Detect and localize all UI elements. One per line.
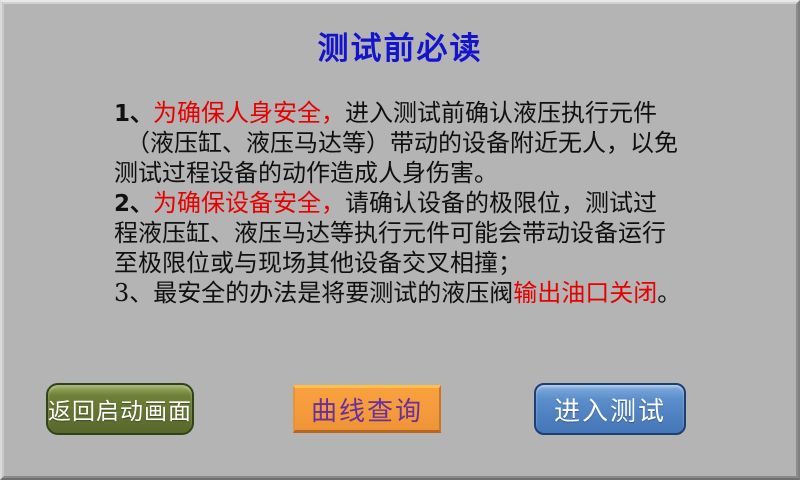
notice-item-1-body: 进入测试前确认液压执行元件 (345, 99, 657, 127)
notice-line-5: 程液压缸、液压马达等执行元件可能会带动设备运行 (114, 218, 714, 248)
hmi-screen: 测试前必读 1、为确保人身安全，进入测试前确认液压执行元件 （液压缸、液压马达等… (0, 0, 800, 480)
notice-line-5-text: 程液压缸、液压马达等执行元件可能会带动设备运行 (114, 219, 666, 247)
curve-query-button[interactable]: 曲线查询 (293, 385, 441, 433)
notice-line-6: 至极限位或与现场其他设备交叉相撞； (114, 248, 714, 278)
notice-line-2: （液压缸、液压马达等）带动的设备附近无人，以免 (114, 128, 714, 158)
notice-line-7: 3、最安全的办法是将要测试的液压阀输出油口关闭。 (114, 278, 714, 308)
return-to-start-screen-button[interactable]: 返回启动画面 (46, 383, 194, 435)
page-title: 测试前必读 (2, 34, 798, 65)
notice-item-2-highlight: 为确保设备安全， (153, 189, 345, 217)
notice-line-2-text: （液压缸、液压马达等）带动的设备附近无人，以免 (126, 129, 678, 157)
notice-item-3-body: 3、最安全的办法是将要测试的液压阀 (114, 279, 513, 307)
notice-item-2-number: 2、 (114, 191, 153, 217)
enter-test-label: 进入测试 (554, 391, 666, 428)
notice-line-4: 2、为确保设备安全，请确认设备的极限位，测试过 (114, 188, 714, 218)
notice-line-3-text: 测试过程设备的动作造成人身伤害。 (114, 159, 498, 187)
notice-line-1: 1、为确保人身安全，进入测试前确认液压执行元件 (114, 98, 714, 128)
return-to-start-screen-label: 返回启动画面 (48, 392, 192, 426)
notice-item-1-number: 1、 (114, 101, 153, 127)
curve-query-label: 曲线查询 (311, 391, 423, 428)
notice-item-1-highlight: 为确保人身安全， (153, 99, 345, 127)
notice-item-3-end: 。 (657, 279, 681, 307)
enter-test-button[interactable]: 进入测试 (534, 383, 686, 435)
notice-item-2-body: 请确认设备的极限位，测试过 (345, 189, 657, 217)
safety-notice-text: 1、为确保人身安全，进入测试前确认液压执行元件 （液压缸、液压马达等）带动的设备… (114, 98, 714, 308)
notice-item-3-highlight: 输出油口关闭 (513, 279, 657, 307)
notice-line-6-text: 至极限位或与现场其他设备交叉相撞； (114, 249, 522, 277)
notice-line-3: 测试过程设备的动作造成人身伤害。 (114, 158, 714, 188)
